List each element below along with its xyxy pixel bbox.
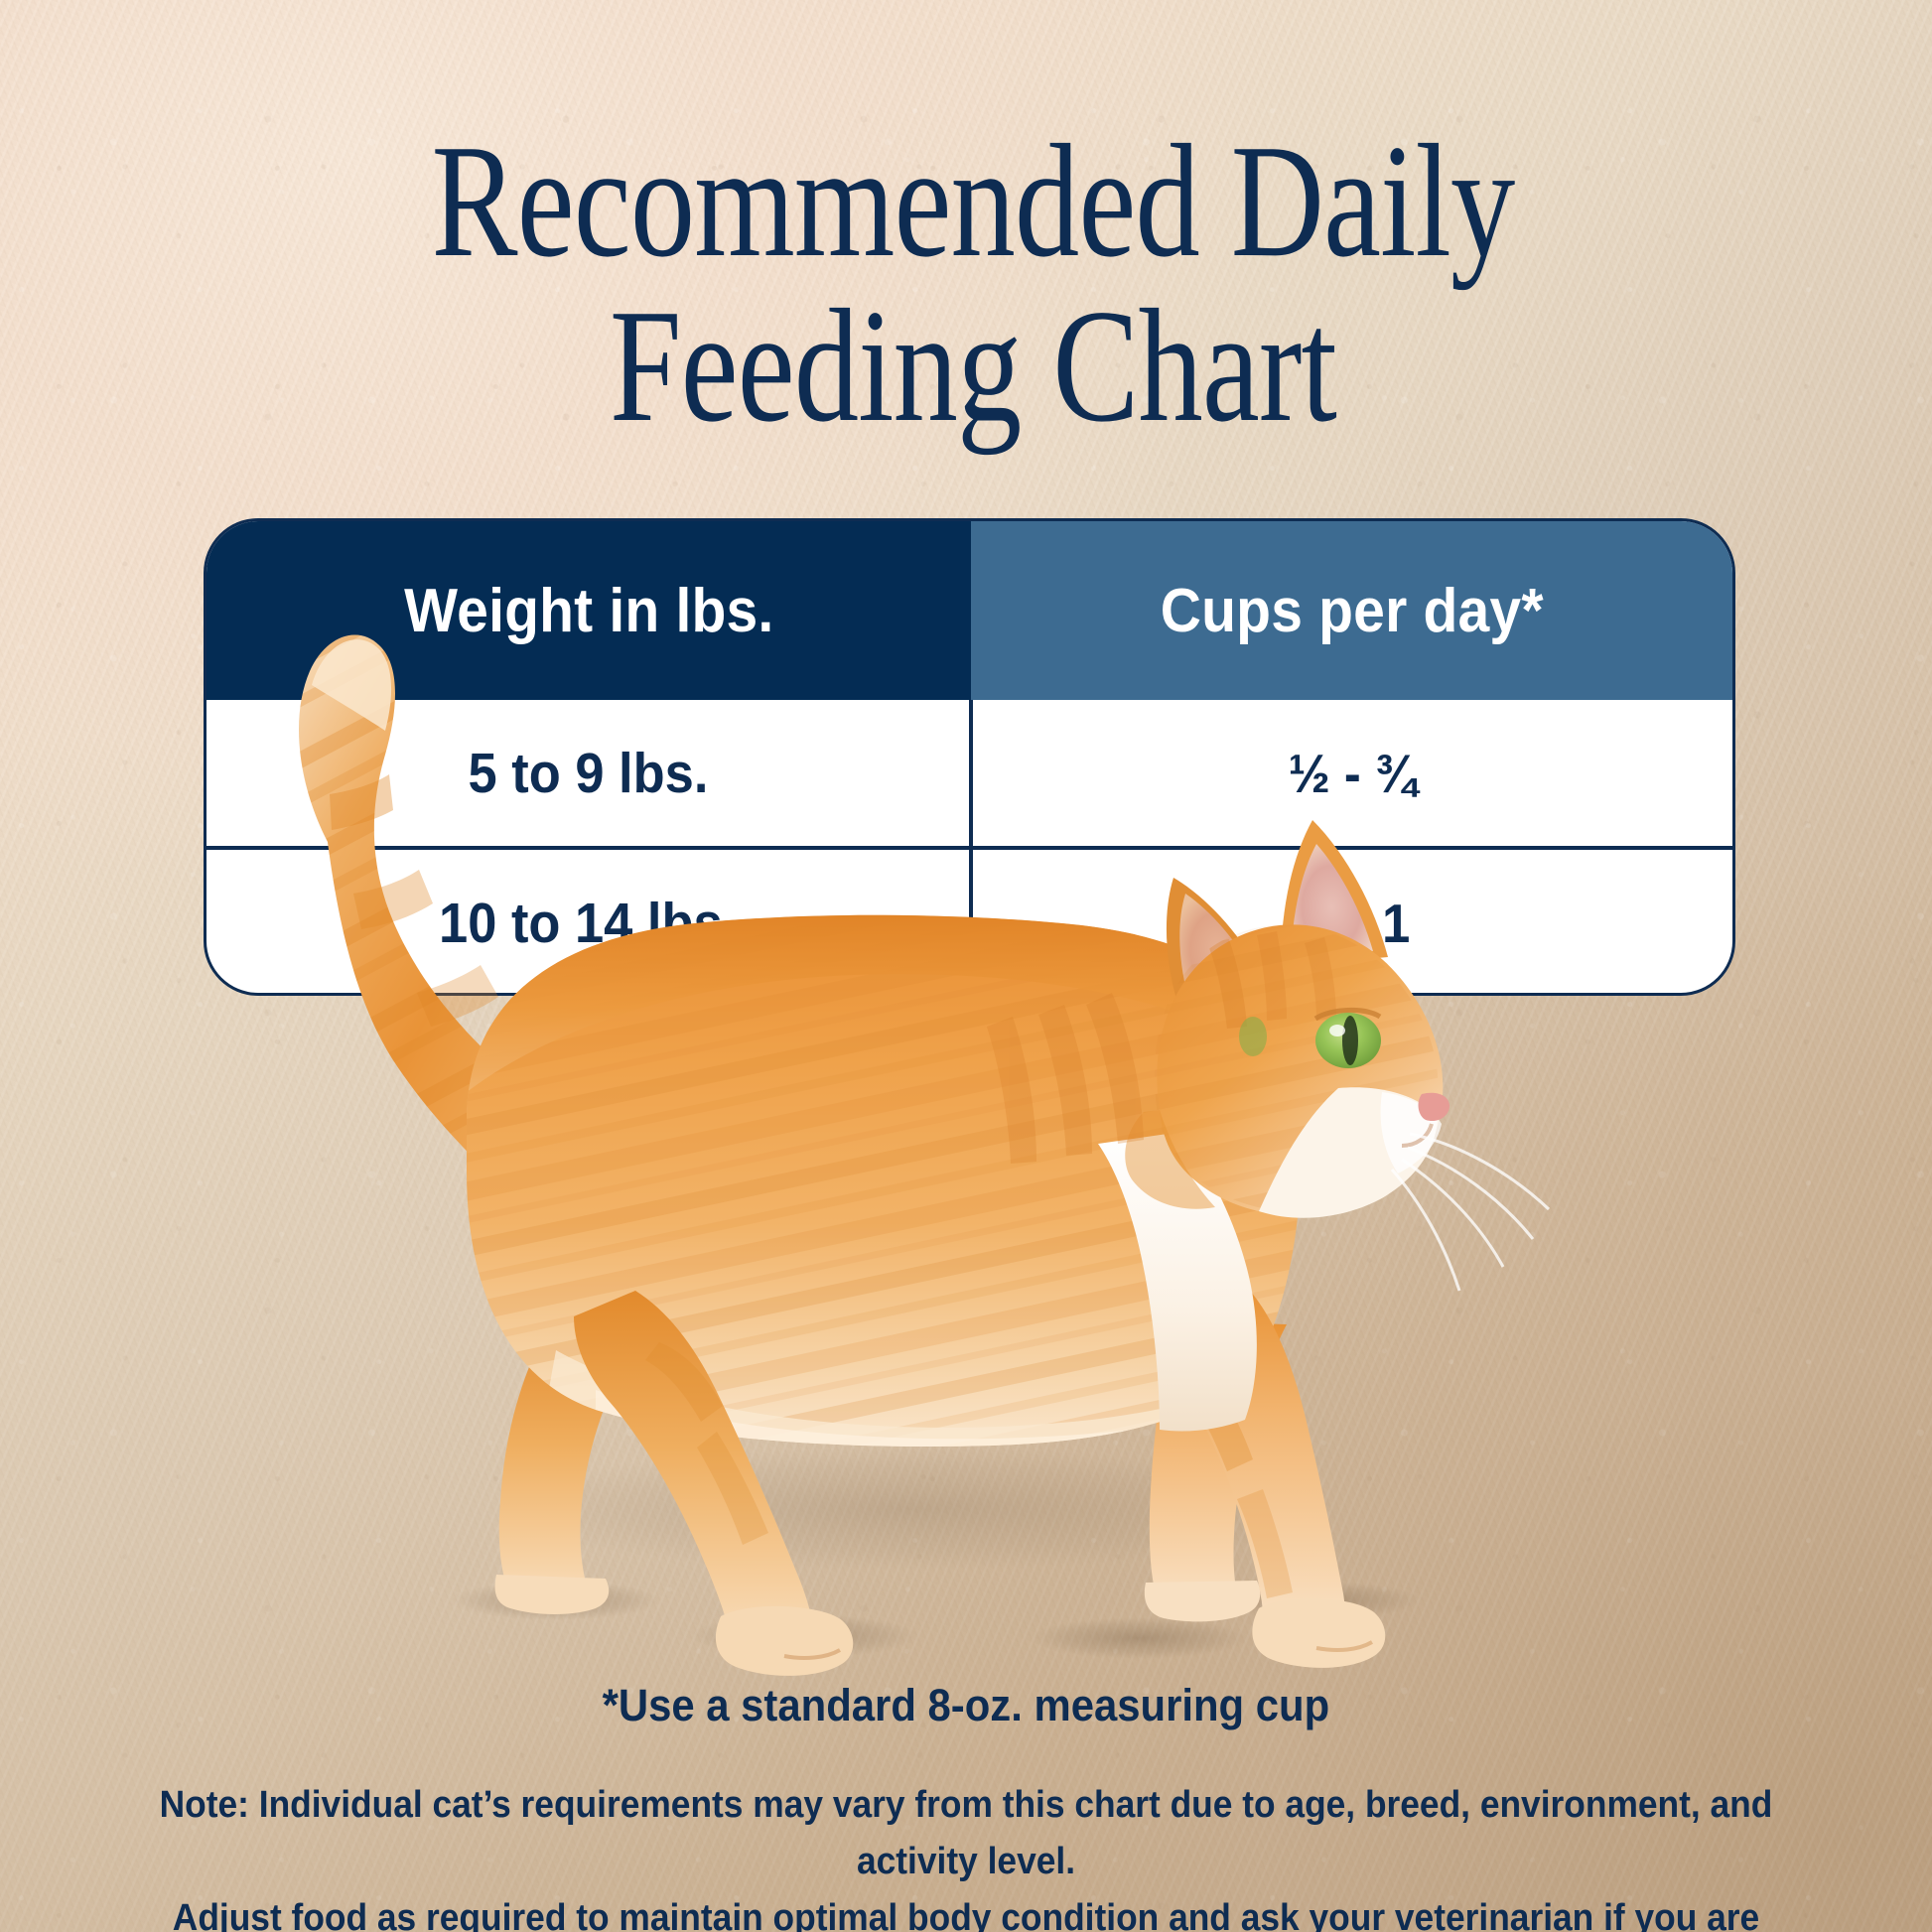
column-header-weight-label: Weight in lbs.	[404, 576, 773, 646]
feeding-chart-infographic: Recommended Daily Feeding Chart Weight i…	[0, 0, 1932, 1932]
disclaimer-note: Note: Individual cat’s requirements may …	[69, 1777, 1863, 1932]
page-title-line-2: Feeding Chart	[345, 284, 1600, 449]
cell-weight-range-value: 5 to 9 lbs.	[468, 741, 708, 806]
cell-cups-amount: ¾ - 1	[973, 850, 1732, 993]
cell-weight-range-value: 10 to 14 lbs.	[439, 891, 737, 956]
column-header-cups-label: Cups per day*	[1161, 576, 1544, 646]
disclaimer-note-line-1: Note: Individual cat’s requirements may …	[69, 1777, 1863, 1890]
cell-cups-amount-value: ¾ - 1	[1296, 892, 1410, 955]
disclaimer-note-line-2: Adjust food as required to maintain opti…	[69, 1890, 1863, 1932]
table-header-row: Weight in lbs. Cups per day*	[207, 521, 1732, 700]
column-header-weight: Weight in lbs.	[207, 521, 971, 700]
measuring-cup-footnote-text: *Use a standard 8-oz. measuring cup	[603, 1680, 1330, 1731]
cell-weight-range: 5 to 9 lbs.	[207, 700, 973, 846]
cell-weight-range: 10 to 14 lbs.	[207, 850, 973, 993]
cell-cups-amount-value: ½ - ¾	[1289, 742, 1417, 805]
measuring-cup-footnote: *Use a standard 8-oz. measuring cup	[0, 1680, 1932, 1731]
table-row: 5 to 9 lbs. ½ - ¾	[207, 700, 1732, 846]
page-title-line-1: Recommended Daily	[432, 112, 1515, 291]
column-header-cups: Cups per day*	[971, 521, 1732, 700]
page-title: Recommended Daily Feeding Chart	[345, 119, 1600, 450]
table-row: 10 to 14 lbs. ¾ - 1	[207, 846, 1732, 993]
cell-cups-amount: ½ - ¾	[973, 700, 1732, 846]
feeding-table: Weight in lbs. Cups per day* 5 to 9 lbs.…	[207, 521, 1732, 993]
